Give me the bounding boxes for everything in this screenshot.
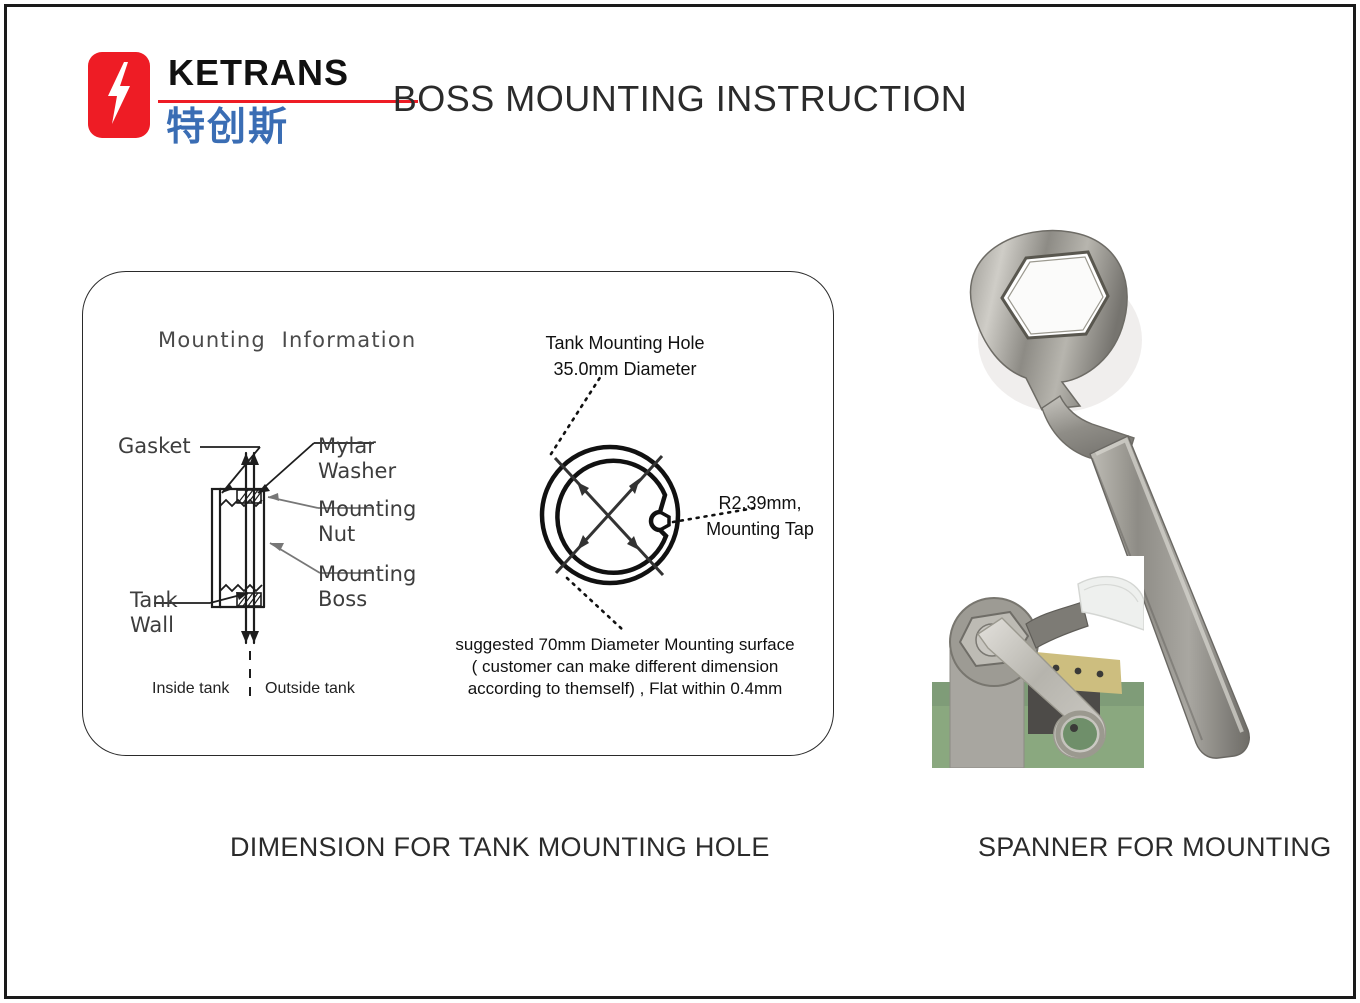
label-gasket: Gasket [118, 434, 191, 459]
callout-mounting-surface: suggested 70mm Diameter Mounting surface… [455, 634, 795, 700]
marker-outside-tank: Outside tank [265, 680, 355, 698]
label-tank-wall: Tank Wall [130, 588, 178, 638]
caption-spanner-for-mounting: SPANNER FOR MOUNTING [978, 832, 1332, 863]
label-mounting-boss: Mounting Boss [318, 562, 416, 612]
marker-inside-tank: Inside tank [152, 680, 229, 698]
leader-gasket [200, 447, 260, 493]
page-title: BOSS MOUNTING INSTRUCTION [0, 78, 1360, 120]
callout-mounting-tap: R2.39mm, Mounting Tap [690, 490, 830, 542]
callout-tank-mounting-hole: Tank Mounting Hole 35.0mm Diameter [500, 330, 750, 382]
leader-hole-callout [551, 376, 601, 454]
spanner-in-use-photo [932, 556, 1144, 768]
dimension-lines [555, 456, 663, 575]
thread-marks [220, 500, 262, 591]
mounting-info-title: Mounting Information [158, 328, 416, 352]
mounting-tap-notch [651, 512, 669, 530]
leader-surface-callout [567, 578, 623, 630]
instruction-sheet: KETRANS 特创斯 BOSS MOUNTING INSTRUCTION [0, 0, 1360, 1003]
label-mylar-washer: Mylar Washer [318, 434, 396, 484]
caption-dimension-for-tank-mounting-hole: DIMENSION FOR TANK MOUNTING HOLE [230, 832, 770, 863]
label-mounting-nut: Mounting Nut [318, 497, 416, 547]
